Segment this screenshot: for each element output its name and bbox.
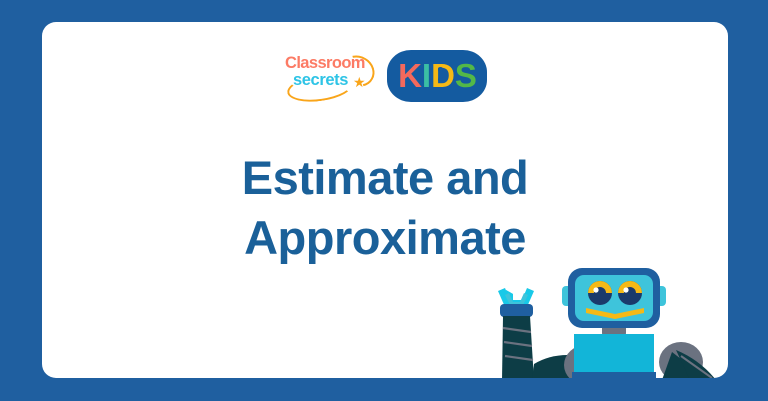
kids-letter-d-glyph: D — [431, 57, 454, 94]
kids-face-dot-upper-icon — [438, 67, 443, 72]
kids-letter-k: K — [398, 59, 421, 92]
robot-illustration — [476, 260, 728, 378]
kids-letter-d: D — [431, 59, 454, 92]
classroom-wordmark-line1: Classroom — [285, 55, 365, 72]
slide-canvas: Classroom secrets ★ K I D S Estimate and… — [0, 0, 768, 401]
kids-badge: K I D S — [387, 50, 487, 102]
robot-torso — [574, 334, 654, 378]
robot-eye-right — [618, 281, 642, 305]
title-line-1: Estimate and — [42, 148, 728, 208]
kids-face-dot-lower-icon — [438, 77, 443, 82]
robot-torso-base — [572, 372, 656, 378]
kids-letter-i: I — [422, 59, 430, 92]
brand-logo-lockup: Classroom secrets ★ K I D S — [42, 50, 728, 102]
robot-right-arm — [659, 342, 716, 378]
star-icon: ★ — [353, 75, 366, 89]
classroom-wordmark-line2: secrets — [293, 72, 348, 89]
kids-letter-s: S — [455, 59, 476, 92]
slide-card: Classroom secrets ★ K I D S Estimate and… — [42, 22, 728, 378]
robot-raised-arm — [498, 288, 534, 378]
robot-eye-left — [588, 281, 612, 305]
classroom-secrets-logo: Classroom secrets ★ — [283, 53, 375, 99]
page-title: Estimate and Approximate — [42, 148, 728, 268]
title-line-2: Approximate — [42, 208, 728, 268]
